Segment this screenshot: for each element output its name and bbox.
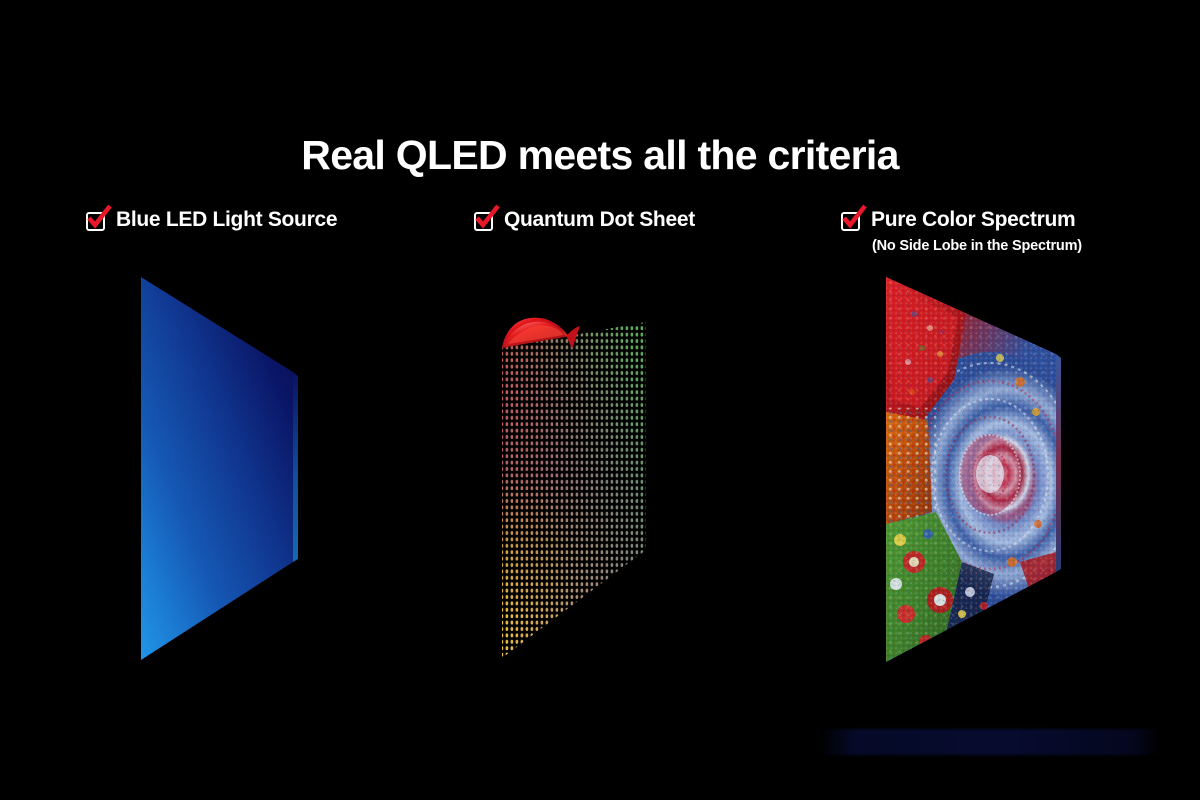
faint-navy-band [820,729,1160,755]
criterion-head: Blue LED Light Source [86,208,337,231]
red-checkmark-icon [85,204,113,232]
blue-led-panel [120,260,320,680]
page-title: Real QLED meets all the criteria [0,133,1200,179]
checked-checkbox-icon[interactable] [474,208,495,231]
red-checkmark-icon [473,204,501,232]
criterion-label: Quantum Dot Sheet [504,209,695,230]
slide-canvas: Real QLED meets all the criteria [0,0,1200,800]
criterion-quantum-dot-sheet[interactable]: Quantum Dot Sheet [474,208,695,231]
criterion-head: Pure Color Spectrum [841,208,1075,231]
criterion-head: Quantum Dot Sheet [474,208,695,231]
criterion-blue-led-light-source[interactable]: Blue LED Light Source [86,208,337,231]
checked-checkbox-icon[interactable] [841,208,862,231]
criteria-row: Blue LED Light Source Quantum Dot Sheet [0,208,1200,278]
red-checkmark-icon [840,204,868,232]
criterion-label: Blue LED Light Source [116,209,337,230]
pure-color-spectrum-panel [870,262,1080,682]
criterion-sublabel: (No Side Lobe in the Spectrum) [872,238,1082,254]
quantum-dot-sheet-panel [480,300,680,680]
criterion-label: Pure Color Spectrum [871,209,1075,230]
criterion-pure-color-spectrum[interactable]: Pure Color Spectrum (No Side Lobe in the… [841,208,1082,254]
checked-checkbox-icon[interactable] [86,208,107,231]
